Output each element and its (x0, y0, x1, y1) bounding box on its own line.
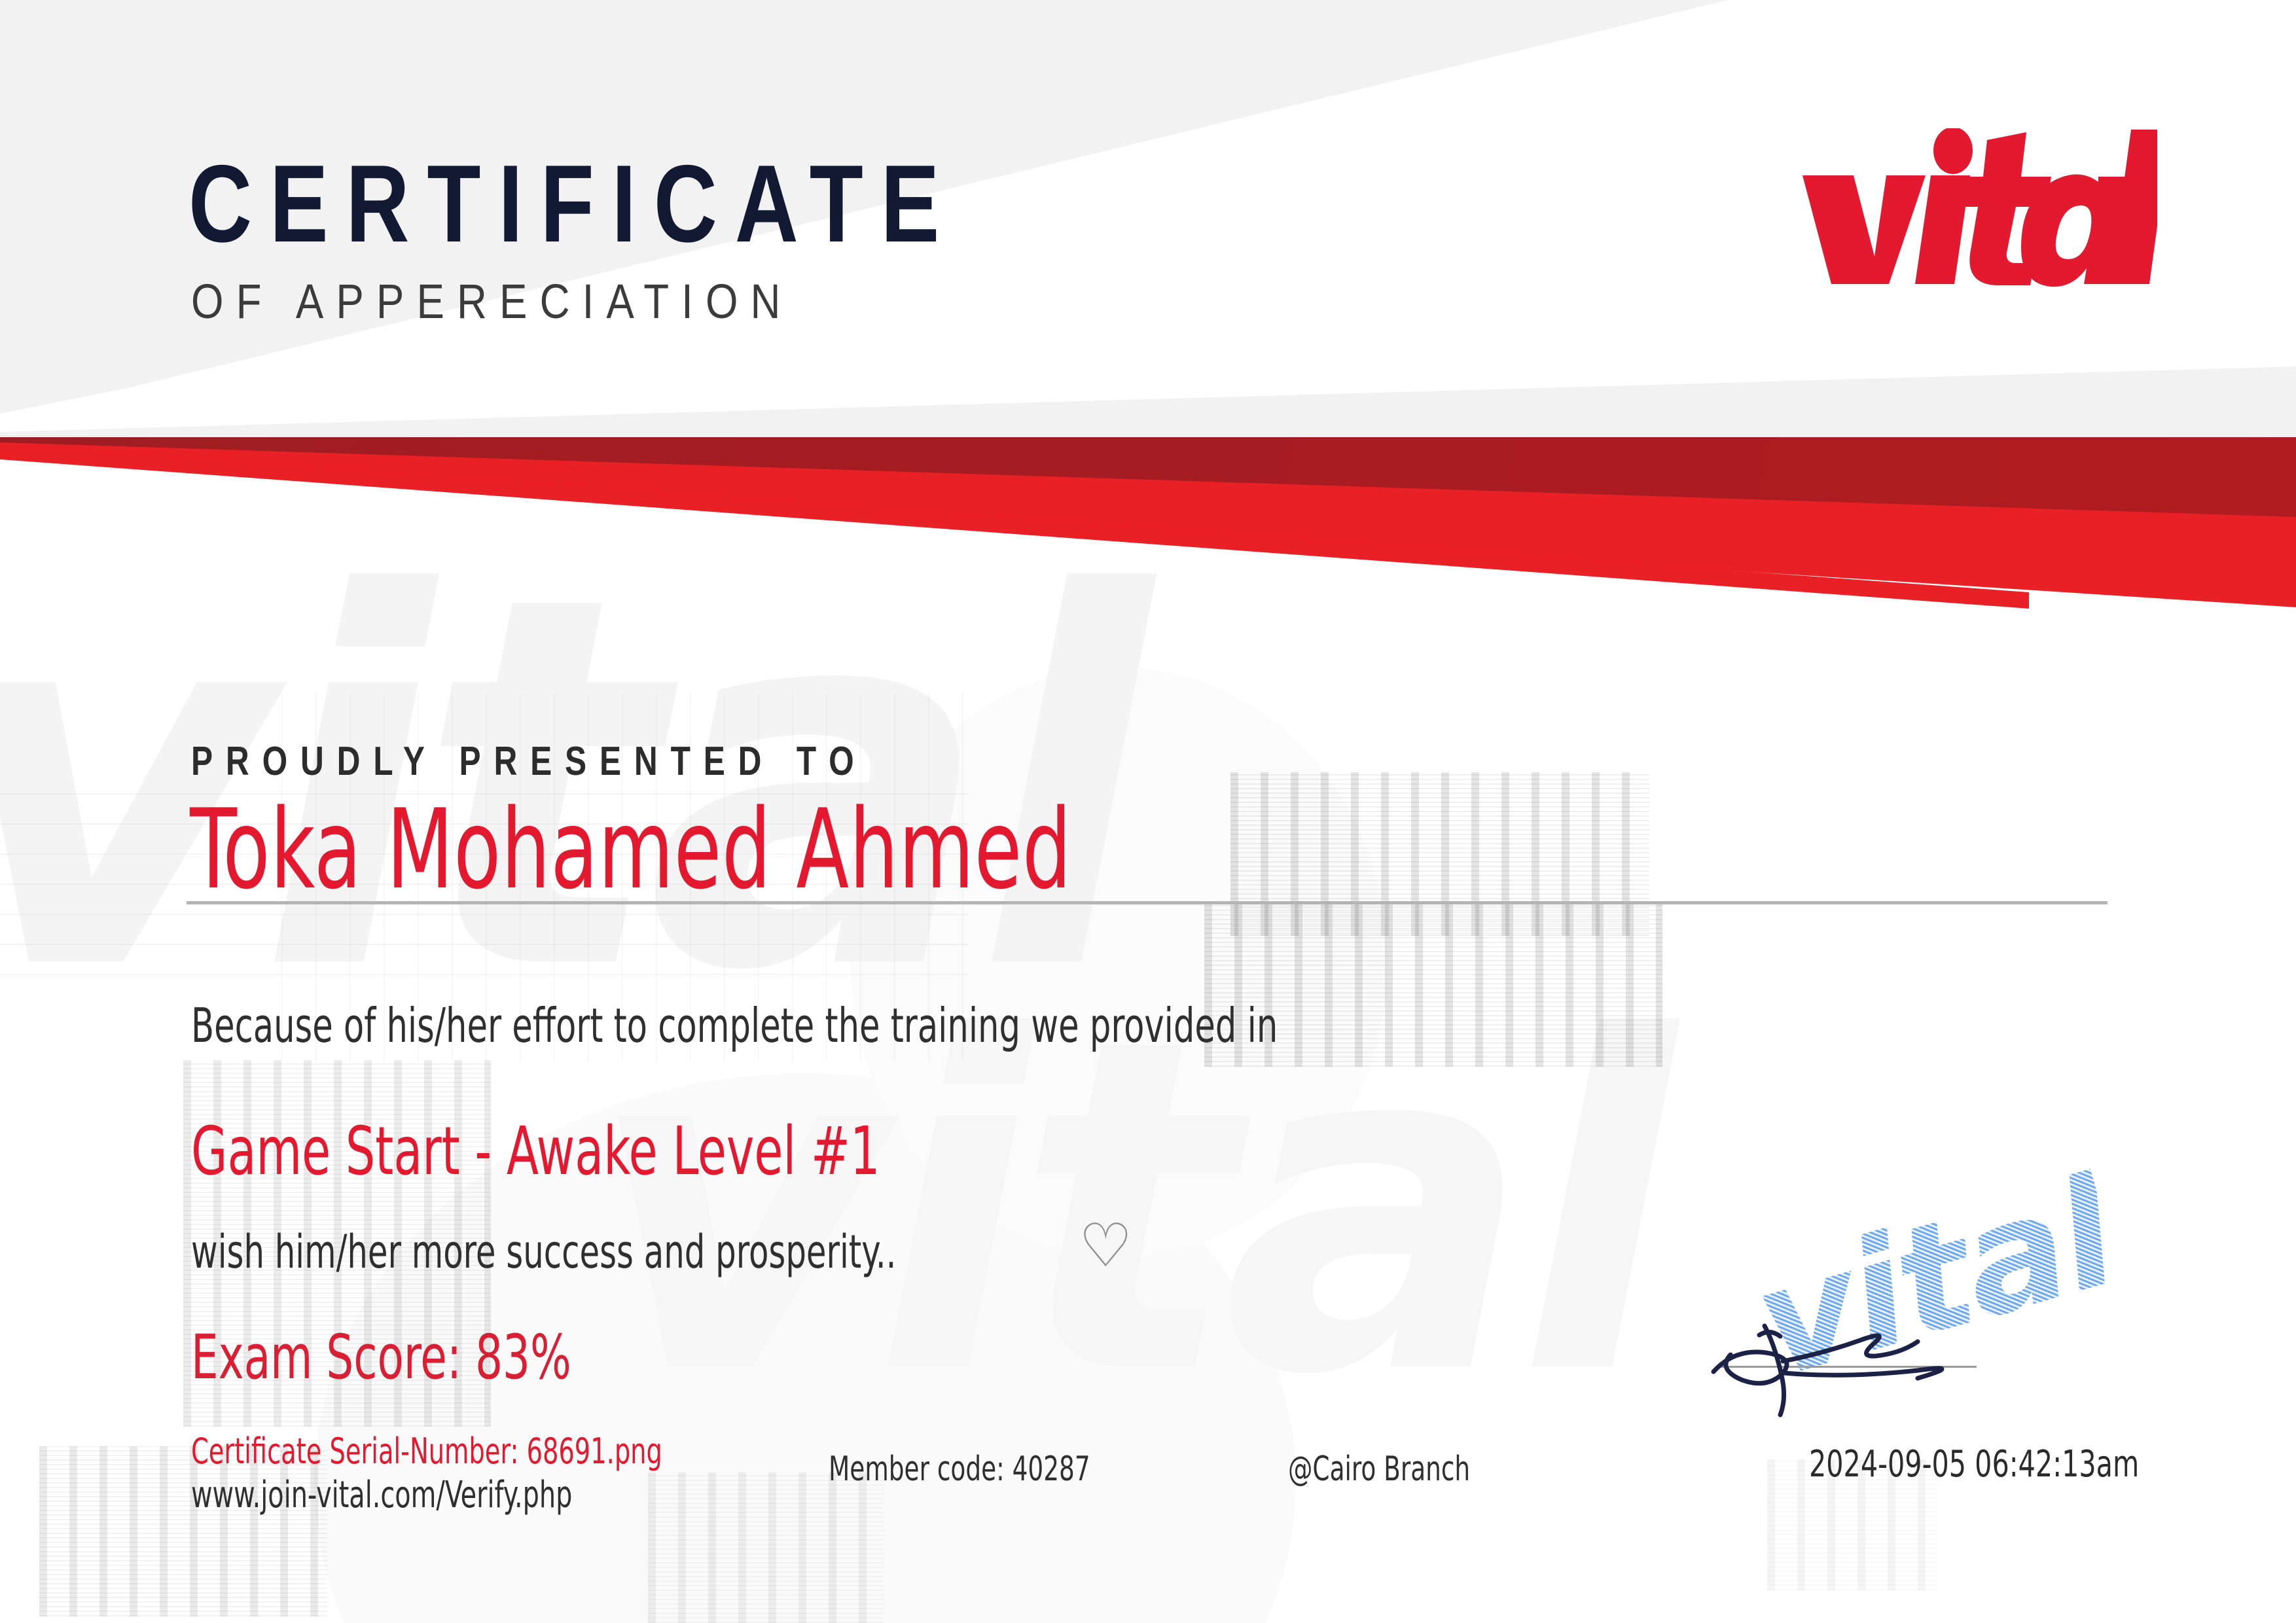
page-subtitle: OF APPERECIATION (191, 274, 793, 329)
certificate-serial-number: Certificate Serial-Number: 68691.png (191, 1431, 662, 1472)
microtext-block (648, 1472, 884, 1623)
member-code: Member code: 40287 (829, 1450, 1090, 1489)
exam-score: Exam Score: 83% (191, 1322, 571, 1393)
branch-label: @Cairo Branch (1288, 1450, 1470, 1489)
watermark-vital-mid: vital (589, 1021, 1661, 1397)
certificate-page: vital vital CERTIFICATE OF APPERECIATION (0, 0, 2296, 1623)
microtext-block (1230, 772, 1649, 936)
presented-to-label: PROUDLY PRESENTED TO (191, 738, 867, 785)
vital-logo (1791, 128, 2157, 292)
issued-timestamp: 2024-09-05 06:42:13am (1809, 1443, 2139, 1486)
reason-line: Because of his/her effort to complete th… (191, 998, 1278, 1053)
verify-url[interactable]: www.join-vital.com/Verify.php (191, 1474, 572, 1516)
course-title: Game Start - Awake Level #1 (191, 1113, 880, 1190)
microtext-block (39, 1446, 327, 1616)
heart-icon: ♡ (1079, 1216, 1132, 1276)
authorized-signature (1702, 1263, 2042, 1433)
wish-line: wish him/her more success and prosperity… (191, 1225, 896, 1279)
recipient-name-underline (187, 901, 2108, 904)
recipient-name: Toka Mohamed Ahmed (190, 785, 1071, 914)
page-title: CERTIFICATE (188, 141, 957, 267)
watermark-arc-mid (851, 668, 1388, 1257)
